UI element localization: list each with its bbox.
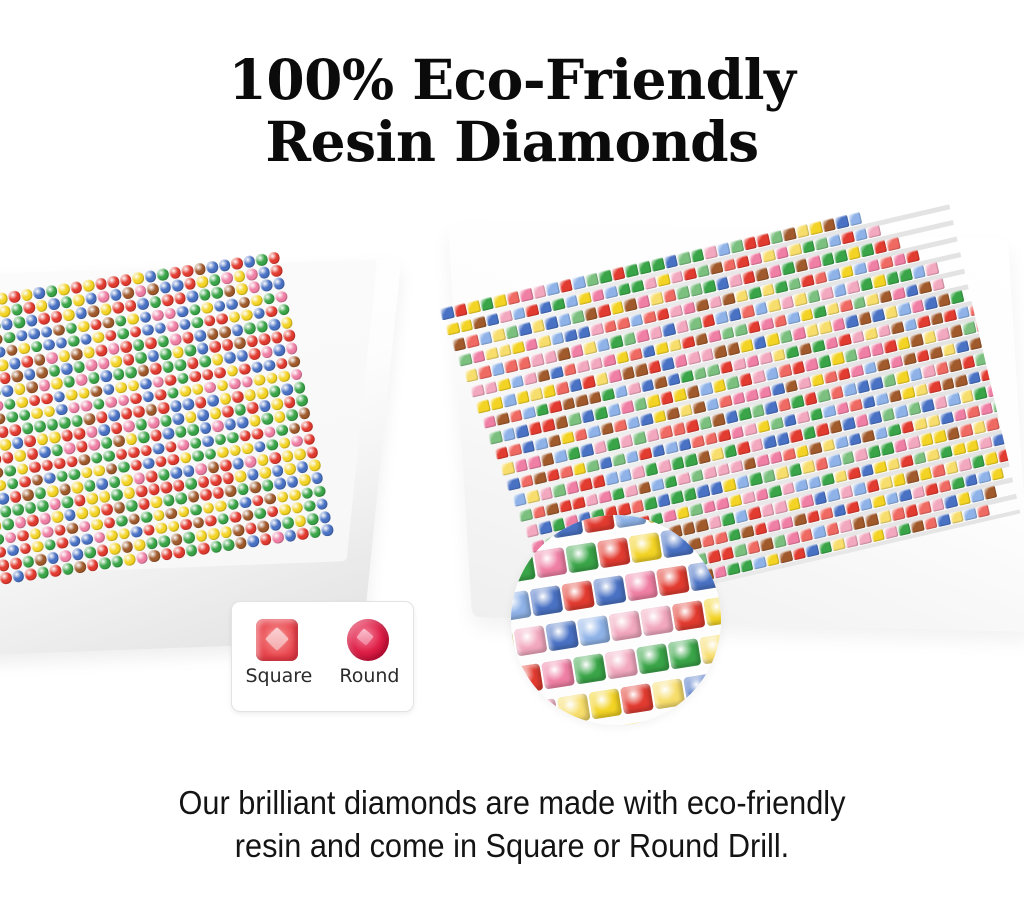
square-drill [608, 610, 642, 641]
round-drill [148, 549, 161, 562]
round-drill [214, 433, 227, 446]
square-drill [944, 460, 959, 474]
round-drill [0, 479, 7, 492]
round-drill [100, 370, 113, 383]
square-drill [543, 350, 558, 364]
round-drill [134, 351, 147, 364]
round-drill [13, 383, 26, 396]
round-drill [318, 511, 331, 524]
square-drill [830, 351, 845, 365]
round-drill [40, 325, 53, 338]
square-drill [883, 339, 898, 353]
round-drill [82, 279, 95, 292]
round-drill [110, 488, 123, 501]
square-drill [699, 348, 714, 362]
square-drill [552, 483, 567, 497]
headline-line-1: 100% Eco-Friendly [0, 52, 1024, 109]
square-drill [947, 358, 962, 372]
round-drill [155, 455, 168, 468]
square-drill [936, 293, 951, 307]
round-drill [57, 349, 70, 362]
square-drill [772, 534, 787, 548]
round-drill [281, 516, 294, 529]
square-drill [787, 463, 802, 477]
square-drill [538, 486, 553, 500]
round-drill [12, 570, 25, 583]
square-drill [856, 345, 871, 359]
square-drill [840, 451, 855, 465]
square-drill [798, 528, 813, 542]
round-drill [29, 527, 42, 540]
round-drill [0, 438, 12, 451]
square-drill [670, 456, 685, 470]
square-drill [779, 295, 794, 309]
round-drill [285, 342, 298, 355]
round-drill [260, 279, 273, 292]
square-drill [490, 362, 505, 376]
round-drill [149, 296, 162, 309]
round-drill [156, 268, 169, 281]
round-drill [249, 481, 262, 494]
round-drill [268, 385, 281, 398]
square-drill [530, 585, 564, 616]
square-drill [921, 364, 936, 378]
square-drill [565, 480, 580, 494]
square-drill [885, 271, 900, 285]
square-drill [821, 218, 836, 232]
square-drill [669, 490, 684, 504]
round-drill [203, 314, 216, 327]
square-drill [846, 246, 861, 260]
round-drill [261, 479, 274, 492]
square-drill [890, 507, 905, 521]
round-drill [43, 338, 56, 351]
square-drill [800, 460, 815, 474]
round-drill [205, 260, 218, 273]
square-drill [568, 378, 583, 392]
round-drill [59, 549, 72, 562]
round-drill [61, 562, 74, 575]
square-drill [631, 465, 646, 479]
square-drill [722, 478, 737, 492]
round-drill [248, 348, 261, 361]
square-drill [753, 301, 768, 315]
round-drill [108, 542, 121, 555]
round-drill [321, 523, 334, 536]
square-drill [799, 494, 814, 508]
round-drill [208, 273, 221, 286]
round-drill [187, 423, 200, 436]
square-drill [984, 451, 999, 465]
round-drill [60, 296, 73, 309]
square-drill [453, 303, 468, 317]
round-drill [185, 544, 198, 557]
round-drill [92, 397, 105, 410]
round-drill [161, 294, 174, 307]
round-drill [152, 509, 165, 522]
square-drill [934, 361, 949, 375]
round-drill [246, 468, 259, 481]
round-drill [94, 277, 107, 290]
round-drill [147, 349, 160, 362]
round-drill [1, 518, 14, 531]
square-drill [858, 277, 873, 291]
square-drill [879, 441, 894, 455]
round-drill [135, 418, 148, 431]
round-drill [150, 496, 163, 509]
square-drill [692, 522, 721, 553]
square-drill [518, 515, 552, 543]
round-drill [20, 288, 33, 301]
round-drill [209, 407, 222, 420]
round-drill [164, 373, 177, 386]
round-drill [201, 301, 214, 314]
round-drill [250, 294, 263, 307]
round-drill [3, 331, 16, 344]
round-drill [145, 470, 158, 483]
square-drill [489, 396, 504, 410]
square-drill [629, 499, 644, 513]
square-drill [720, 512, 735, 526]
round-drill [6, 477, 19, 490]
round-drill [36, 566, 49, 579]
square-drill [969, 488, 984, 502]
round-drill [102, 383, 115, 396]
square-drill [738, 373, 753, 387]
square-drill [949, 290, 964, 304]
square-drill [945, 426, 960, 440]
round-drill [159, 281, 172, 294]
round-drill [180, 518, 193, 531]
square-drill [675, 285, 690, 299]
round-drill [112, 301, 125, 314]
square-drill [891, 473, 906, 487]
round-drill [263, 359, 276, 372]
round-drill [194, 529, 207, 542]
round-drill [192, 516, 205, 529]
round-drill [196, 409, 209, 422]
round-drill [90, 384, 103, 397]
round-drill [259, 533, 272, 546]
round-drill [111, 555, 124, 568]
round-drill [236, 416, 249, 429]
round-drill [68, 401, 81, 414]
round-drill [146, 283, 159, 296]
square-drill [775, 432, 790, 446]
round-drill [219, 525, 232, 538]
round-drill [157, 535, 170, 548]
square-drill [794, 258, 809, 272]
round-drill [256, 520, 269, 533]
square-drill [802, 426, 817, 440]
square-drill [688, 560, 721, 591]
square-drill [878, 476, 893, 490]
round-drill [0, 559, 10, 572]
square-drill [774, 466, 789, 480]
round-drill [45, 284, 58, 297]
square-drill [656, 565, 690, 596]
round-drill [107, 409, 120, 422]
round-drill [254, 507, 267, 520]
round-drill [28, 327, 41, 340]
square-drill [829, 385, 844, 399]
square-drill [854, 413, 869, 427]
round-drill [265, 305, 278, 318]
round-drill [193, 262, 206, 275]
round-drill [199, 422, 212, 435]
round-drill [33, 486, 46, 499]
square-drill [713, 344, 728, 358]
square-drill [511, 552, 536, 583]
square-drill [759, 537, 774, 551]
round-drill [258, 333, 271, 346]
square-drill [581, 375, 596, 389]
square-drill [778, 329, 793, 343]
square-drill [488, 430, 503, 444]
round-drill [73, 494, 86, 507]
square-drill [853, 448, 868, 462]
round-drill [149, 362, 162, 375]
round-drill [176, 305, 189, 318]
round-drill [136, 297, 149, 310]
round-drill [137, 364, 150, 377]
round-drill [71, 547, 84, 560]
square-drill [734, 509, 749, 523]
square-drill [838, 519, 853, 533]
square-drill [644, 462, 659, 476]
square-drill [683, 453, 698, 467]
round-drill [193, 329, 206, 342]
round-drill [46, 551, 59, 564]
round-drill [157, 468, 170, 481]
round-drill [4, 464, 17, 477]
square-drill [632, 431, 647, 445]
round-drill [240, 309, 253, 322]
square-drill [703, 595, 721, 626]
square-drill [635, 329, 650, 343]
round-drill [201, 435, 214, 448]
square-drill [477, 365, 492, 379]
round-drill [166, 320, 179, 333]
round-drill [88, 438, 101, 451]
round-drill [246, 401, 259, 414]
square-drill [545, 620, 579, 651]
square-drill [557, 313, 572, 327]
square-drill [624, 570, 658, 601]
square-drill [695, 484, 710, 498]
round-drill [228, 310, 241, 323]
square-drill [740, 304, 755, 318]
round-drill [172, 412, 185, 425]
round-drill [8, 357, 21, 370]
round-drill [70, 414, 83, 427]
round-drill [285, 409, 298, 422]
round-drill [221, 405, 234, 418]
square-drill [873, 240, 888, 254]
square-drill [919, 432, 934, 446]
round-drill [173, 292, 186, 305]
round-drill [231, 323, 244, 336]
round-drill [269, 518, 282, 531]
round-drill [256, 453, 269, 466]
round-drill [152, 442, 165, 455]
round-drill [71, 481, 84, 494]
square-drill [618, 434, 633, 448]
round-drill [216, 312, 229, 325]
round-drill [33, 353, 46, 366]
square-drill [540, 452, 555, 466]
round-drill [160, 548, 173, 561]
square-drill [750, 404, 765, 418]
square-drill [933, 395, 948, 409]
round-drill [209, 540, 222, 553]
round-drill [26, 447, 39, 460]
square-drill [478, 331, 493, 345]
round-drill [162, 427, 175, 440]
square-drill [606, 403, 621, 417]
square-drill [650, 257, 665, 271]
round-drill [169, 399, 182, 412]
square-drill [466, 300, 481, 314]
round-drill [68, 468, 81, 481]
square-drill [864, 513, 879, 527]
round-drill [196, 275, 209, 288]
square-drill [826, 488, 841, 502]
round-drill [77, 320, 90, 333]
square-drill [660, 527, 694, 558]
round-drill [23, 434, 36, 447]
square-drill [525, 489, 540, 503]
square-drill [531, 319, 546, 333]
square-drill [528, 387, 543, 401]
round-drill [181, 264, 194, 277]
square-drill [648, 326, 663, 340]
round-drill [73, 560, 86, 573]
round-drill [191, 316, 204, 329]
square-drill [514, 625, 548, 656]
round-drill [186, 357, 199, 370]
square-drill [859, 243, 874, 257]
square-drill [855, 379, 870, 393]
round-drill [224, 485, 237, 498]
round-drill [84, 292, 97, 305]
square-drill [643, 496, 658, 510]
round-drill [69, 281, 82, 294]
square-drill [724, 410, 739, 424]
square-drill [544, 316, 559, 330]
round-drill [316, 498, 329, 511]
round-drill [184, 477, 197, 490]
round-drill [295, 394, 308, 407]
square-drill [636, 643, 670, 674]
square-drill [867, 410, 882, 424]
product-caption: Our brilliant diamonds are made with eco… [36, 782, 988, 868]
round-drill [129, 392, 142, 405]
round-drill [234, 470, 247, 483]
round-drill [53, 390, 66, 403]
square-drill [491, 328, 506, 342]
square-drill [526, 455, 541, 469]
square-drill [749, 438, 764, 452]
square-drill [817, 354, 832, 368]
square-drill [924, 262, 939, 276]
round-drill [211, 420, 224, 433]
round-drill [122, 420, 135, 433]
square-drill [818, 320, 833, 334]
round-drill [234, 536, 247, 549]
round-drill [3, 397, 16, 410]
round-drill [226, 431, 239, 444]
square-drill [831, 317, 846, 331]
square-drill [906, 435, 921, 449]
round-drill [239, 496, 252, 509]
round-drill [70, 347, 83, 360]
square-drill [554, 415, 569, 429]
round-drill [174, 425, 187, 438]
square-drill [573, 653, 607, 684]
round-drill [41, 459, 54, 472]
round-drill [105, 529, 118, 542]
square-drill [516, 356, 531, 370]
square-gem-icon [256, 619, 298, 661]
round-drill [171, 346, 184, 359]
square-drill [541, 658, 575, 689]
round-drill [263, 292, 276, 305]
square-drill [583, 307, 598, 321]
square-drill [922, 330, 937, 344]
round-drill [36, 433, 49, 446]
round-drill [82, 346, 95, 359]
round-drill [208, 340, 221, 353]
square-drill [808, 221, 823, 235]
legend-labels: Square Round [232, 665, 413, 687]
round-drill [224, 418, 237, 431]
round-drill [306, 512, 319, 525]
round-drill [155, 522, 168, 535]
round-drill [235, 283, 248, 296]
square-drill [866, 444, 881, 458]
round-drill [124, 299, 137, 312]
round-drill [135, 551, 148, 564]
round-drill [89, 318, 102, 331]
square-drill [584, 272, 599, 286]
round-drill [75, 440, 88, 453]
square-drill [834, 215, 849, 229]
round-drill [280, 316, 293, 329]
square-drill [845, 280, 860, 294]
square-drill [747, 506, 762, 520]
square-drill [530, 353, 545, 367]
round-drill [115, 447, 128, 460]
round-drill [169, 466, 182, 479]
caption-line-1: Our brilliant diamonds are made with eco… [36, 782, 988, 825]
round-drill [233, 403, 246, 416]
square-drill [727, 307, 742, 321]
round-drill [251, 427, 264, 440]
square-drill [893, 438, 908, 452]
round-drill [117, 327, 130, 340]
square-drill [607, 369, 622, 383]
square-drill [793, 292, 808, 306]
round-drill [56, 536, 69, 549]
round-drill [120, 473, 133, 486]
square-drill [578, 477, 593, 491]
round-drill [91, 518, 104, 531]
round-drill [217, 512, 230, 525]
round-drill [5, 344, 18, 357]
square-drill [852, 482, 867, 496]
round-drill [214, 499, 227, 512]
